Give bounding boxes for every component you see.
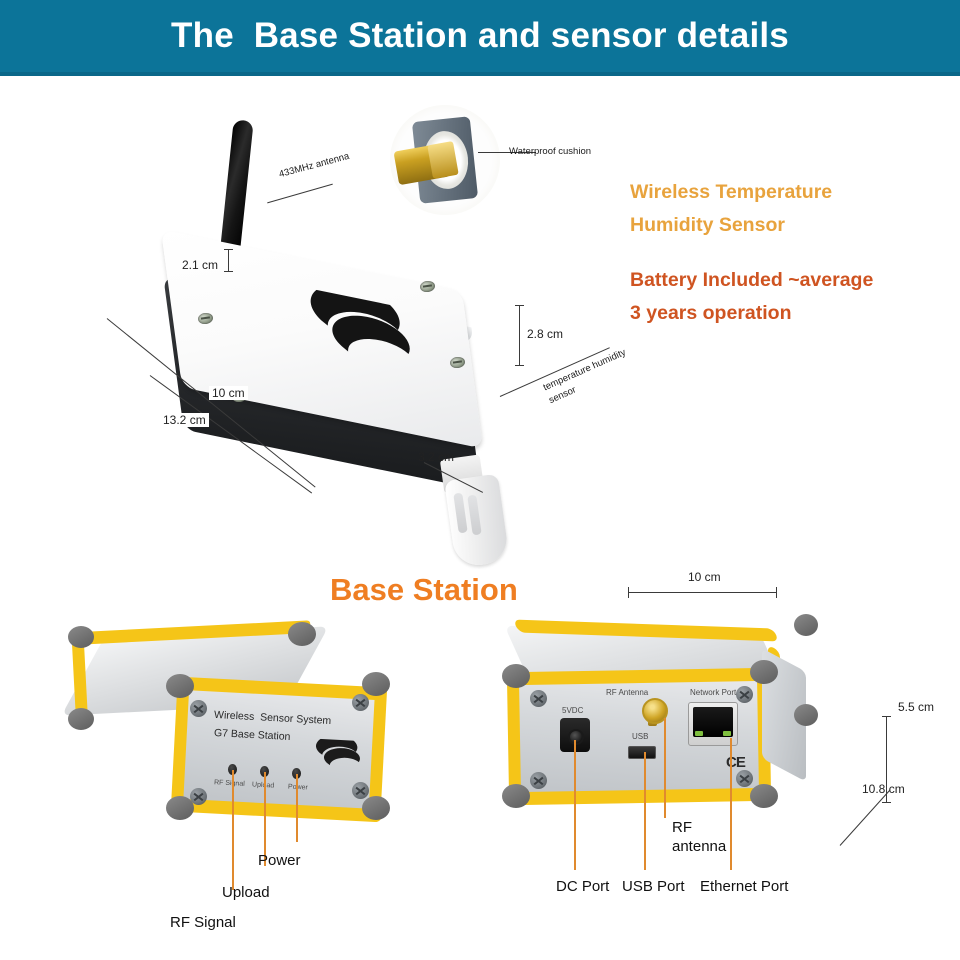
dimension-tick <box>628 587 629 598</box>
front-panel-screw <box>352 694 369 711</box>
callout-line-usb-port <box>644 752 646 870</box>
front-panel-screw <box>190 700 207 717</box>
led-label-power: Power <box>288 783 308 791</box>
callout-line-rf-antenna <box>664 718 666 818</box>
rear-panel-screw <box>736 770 753 787</box>
callout-dc-port: DC Port <box>556 878 609 895</box>
promo-text-primary: Wireless Temperature Humidity Sensor <box>630 176 930 242</box>
corner-pad <box>750 784 778 808</box>
dimension-tick <box>515 305 524 306</box>
front-panel-screw <box>190 788 207 805</box>
corner-pad <box>502 664 530 688</box>
callout-line-power <box>296 774 298 842</box>
callout-rf-antenna: RF antenna <box>672 818 726 856</box>
infographic-canvas: The Base Station and sensor details Wire… <box>0 0 960 960</box>
section-title-base-station: Base Station <box>330 572 630 608</box>
header-bottom-edge <box>0 72 960 76</box>
rear-face-left-bumper <box>507 674 521 800</box>
dimension-sensor-width: 10 cm <box>209 386 248 400</box>
dimension-tick <box>882 716 891 717</box>
rear-label-rf-antenna: RF Antenna <box>606 688 648 697</box>
dimension-line-height <box>519 305 520 365</box>
callout-line-dc-port <box>574 740 576 870</box>
page-title: The Base Station and sensor details <box>0 0 960 72</box>
callout-ethernet-port: Ethernet Port <box>700 878 788 895</box>
corner-pad <box>502 784 530 808</box>
rear-label-5vdc: 5VDC <box>562 706 583 715</box>
corner-pad <box>362 672 390 696</box>
dimension-sensor-height: 2.8 cm <box>527 327 563 341</box>
dimension-tick <box>515 365 524 366</box>
ethernet-led <box>695 731 703 736</box>
waterproof-cushion-inset <box>390 105 500 215</box>
sma-connector-thread <box>427 141 459 179</box>
corner-pad <box>288 622 316 646</box>
dimension-tick <box>882 802 891 803</box>
dimension-probe: 3.2 cm <box>418 450 454 464</box>
ethernet-led <box>723 731 731 736</box>
front-panel-screw <box>352 782 369 799</box>
dimension-line-bs-width <box>628 592 776 593</box>
dimension-antenna-base: 2.1 cm <box>182 258 218 272</box>
dimension-sensor-length: 13.2 cm <box>160 413 209 427</box>
rear-panel-screw <box>736 686 753 703</box>
corner-pad <box>362 796 390 820</box>
callout-usb-port: USB Port <box>622 878 685 895</box>
sensor-illustration <box>90 95 650 555</box>
rear-label-network-port: Network Port <box>690 688 736 697</box>
callout-line-ethernet-port <box>730 738 732 870</box>
dimension-tick <box>224 271 233 272</box>
corner-pad <box>794 704 818 726</box>
dc-jack-pin <box>568 729 584 745</box>
callout-line-rf-signal <box>232 770 234 890</box>
brand-logo-icon <box>313 739 369 778</box>
base-station-front-view: Wireless Sensor System G7 Base Station R… <box>62 612 392 842</box>
dimension-tick <box>228 249 229 271</box>
sensor-enclosure <box>150 205 530 505</box>
dimension-tick <box>776 587 777 598</box>
corner-pad <box>68 626 94 648</box>
rear-panel-screw <box>530 772 547 789</box>
callout-rf-signal: RF Signal <box>170 914 236 931</box>
rear-panel-screw <box>530 690 547 707</box>
rear-label-usb: USB <box>632 732 648 741</box>
dimension-tick <box>224 249 233 250</box>
dimension-bs-width: 10 cm <box>688 570 721 584</box>
callout-power: Power <box>258 852 301 869</box>
promo-text-secondary: Battery Included ~average 3 years operat… <box>630 264 940 330</box>
corner-pad <box>794 614 818 636</box>
dimension-line-bs-depth <box>840 790 890 846</box>
dimension-bs-depth: 10.8 cm <box>862 782 905 796</box>
corner-pad <box>68 708 94 730</box>
cushion-label: Waterproof cushion <box>509 146 591 157</box>
corner-pad <box>750 660 778 684</box>
corner-pad <box>166 674 194 698</box>
usb-port-connector <box>628 746 656 759</box>
callout-upload: Upload <box>222 884 270 901</box>
dimension-bs-height: 5.5 cm <box>898 700 934 714</box>
ce-mark: CE <box>726 754 745 771</box>
